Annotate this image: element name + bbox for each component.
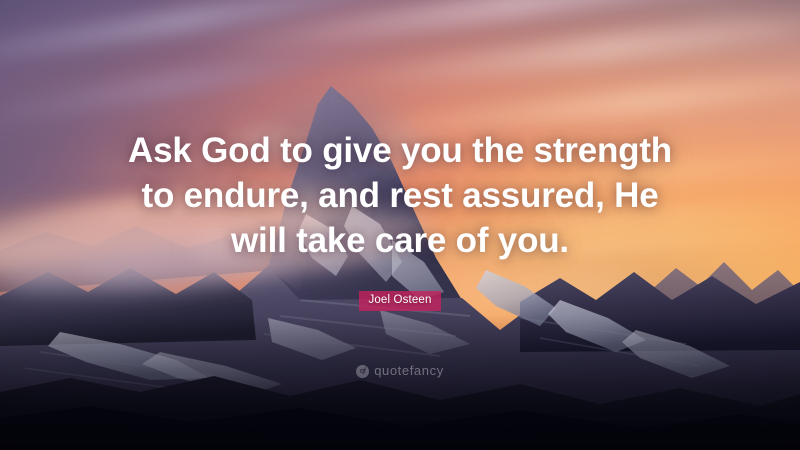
author-badge[interactable]: Joel Osteen bbox=[359, 291, 440, 311]
author-row: Joel Osteen bbox=[0, 290, 800, 311]
quote-block: Ask God to give you the strength to endu… bbox=[0, 128, 800, 263]
quote-text: Ask God to give you the strength to endu… bbox=[52, 128, 748, 263]
quote-poster: Ask God to give you the strength to endu… bbox=[0, 0, 800, 450]
